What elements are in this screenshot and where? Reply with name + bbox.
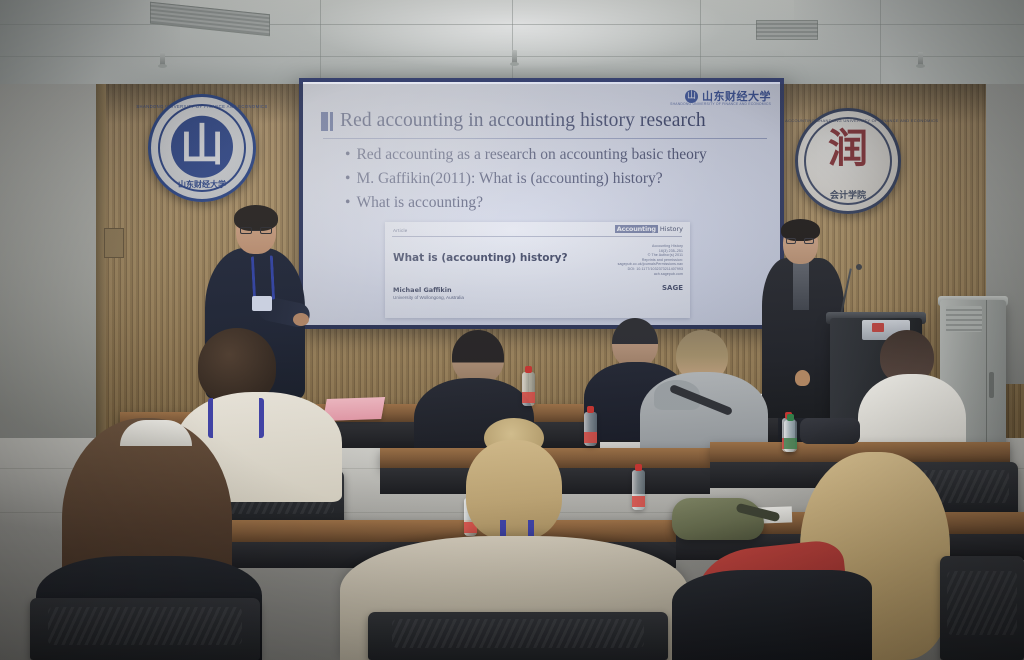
ac-vent-grille [946, 306, 982, 332]
microphone-icon [856, 264, 862, 270]
glasses-icon [240, 227, 272, 234]
ceiling-tile-line [700, 0, 701, 84]
chair [30, 598, 260, 660]
lanyard [208, 398, 264, 438]
dark-jacket [672, 570, 872, 660]
olive-shoulder-bag [672, 498, 764, 540]
lecture-hall-photo: SHANDONG UNIVERSITY OF FINANCE AND ECONO… [0, 0, 1024, 660]
sprinkler-icon [160, 52, 165, 65]
sprinkler-icon [918, 52, 923, 65]
water-bottle [632, 470, 645, 510]
presenter-left-badge [252, 296, 272, 311]
ceiling-vent [756, 20, 818, 40]
podium-badge-icon [872, 323, 884, 332]
water-bottle [784, 420, 797, 452]
ceiling-tile-line [512, 0, 513, 84]
water-bottle [584, 412, 597, 446]
ceiling-tile-line [880, 0, 881, 84]
ac-door-handle [989, 372, 994, 398]
ceiling-shadow-right [794, 0, 1024, 84]
chair [940, 556, 1024, 660]
presenter-right-coat-opening [793, 262, 809, 310]
head [452, 330, 504, 384]
presenter-left-hand [293, 313, 309, 326]
sprinkler-icon [512, 50, 517, 63]
chair [368, 612, 668, 660]
ceiling [0, 0, 1024, 84]
presenter-right-hand [795, 370, 810, 386]
presenter-left-lanyard [251, 255, 275, 300]
ceiling-tile-line [320, 0, 321, 84]
water-bottle [522, 372, 535, 406]
glasses-icon [786, 238, 814, 244]
head [612, 318, 658, 368]
dark-bag [800, 418, 860, 444]
